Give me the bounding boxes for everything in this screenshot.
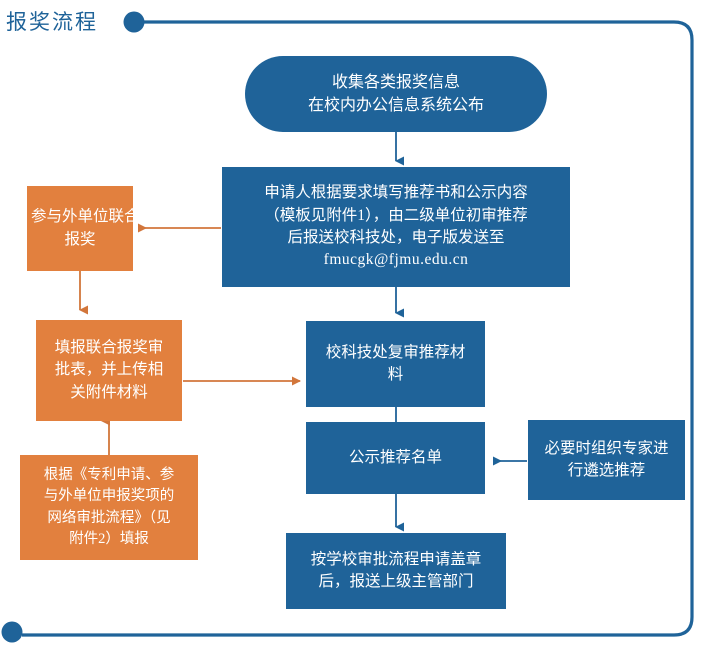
node-organize-experts-selection[interactable]: 必要时组织专家进 行遴选推荐 bbox=[528, 420, 685, 500]
page-title: 报奖流程 bbox=[6, 6, 98, 36]
node-line: 必要时组织专家进 bbox=[532, 438, 681, 460]
node-line: 料 bbox=[310, 364, 481, 386]
node-line: 批表，并上传相 bbox=[40, 359, 178, 381]
node-fill-approval-form[interactable]: 填报联合报奖审 批表，并上传相 关附件材料 bbox=[36, 320, 182, 421]
node-line: 根据《专利申请、参 bbox=[24, 465, 194, 486]
node-publicize-recommend-list[interactable]: 公示推荐名单 bbox=[306, 422, 485, 494]
node-line-email: fmucgk@fjmu.edu.cn bbox=[226, 249, 566, 271]
node-applicant-fill-form[interactable]: 申请人根据要求填写推荐书和公示内容 （模板见附件1），由二级单位初审推荐 后报送… bbox=[222, 167, 570, 287]
node-line: 附件2）填报 bbox=[24, 529, 194, 550]
node-line: 校科技处复审推荐材 bbox=[310, 342, 481, 364]
node-sci-tech-office-review[interactable]: 校科技处复审推荐材 料 bbox=[306, 321, 485, 407]
node-line: 参与外单位联合 bbox=[31, 206, 129, 228]
node-stamp-and-submit[interactable]: 按学校审批流程申请盖章 后，报送上级主管部门 bbox=[286, 533, 506, 609]
node-line: （模板见附件1），由二级单位初审推荐 bbox=[226, 205, 566, 227]
node-line: 按学校审批流程申请盖章 bbox=[290, 549, 502, 571]
node-line: 在校内办公信息系统公布 bbox=[249, 94, 543, 117]
bottom-dot-icon bbox=[2, 622, 23, 643]
node-line: 公示推荐名单 bbox=[310, 447, 481, 469]
node-line: 行遴选推荐 bbox=[532, 460, 681, 482]
node-line: 填报联合报奖审 bbox=[40, 337, 178, 359]
node-line: 网络审批流程》（见 bbox=[24, 508, 194, 529]
node-line: 收集各类报奖信息 bbox=[249, 71, 543, 94]
node-line: 申请人根据要求填写推荐书和公示内容 bbox=[226, 182, 566, 204]
node-line: 后报送校科技处，电子版发送至 bbox=[226, 227, 566, 249]
node-line: 后，报送上级主管部门 bbox=[290, 571, 502, 593]
node-collect-info[interactable]: 收集各类报奖信息 在校内办公信息系统公布 bbox=[245, 56, 547, 132]
top-dot-icon bbox=[124, 12, 145, 33]
node-per-regulation-attachment2[interactable]: 根据《专利申请、参 与外单位申报奖项的 网络审批流程》（见 附件2）填报 bbox=[20, 455, 198, 560]
node-line: 关附件材料 bbox=[40, 382, 178, 404]
node-line: 报奖 bbox=[31, 229, 129, 251]
node-line: 与外单位申报奖项的 bbox=[24, 486, 194, 507]
flowchart-canvas: 报奖流程 bbox=[0, 0, 708, 651]
node-joint-external-apply[interactable]: 参与外单位联合 报奖 bbox=[27, 186, 133, 271]
